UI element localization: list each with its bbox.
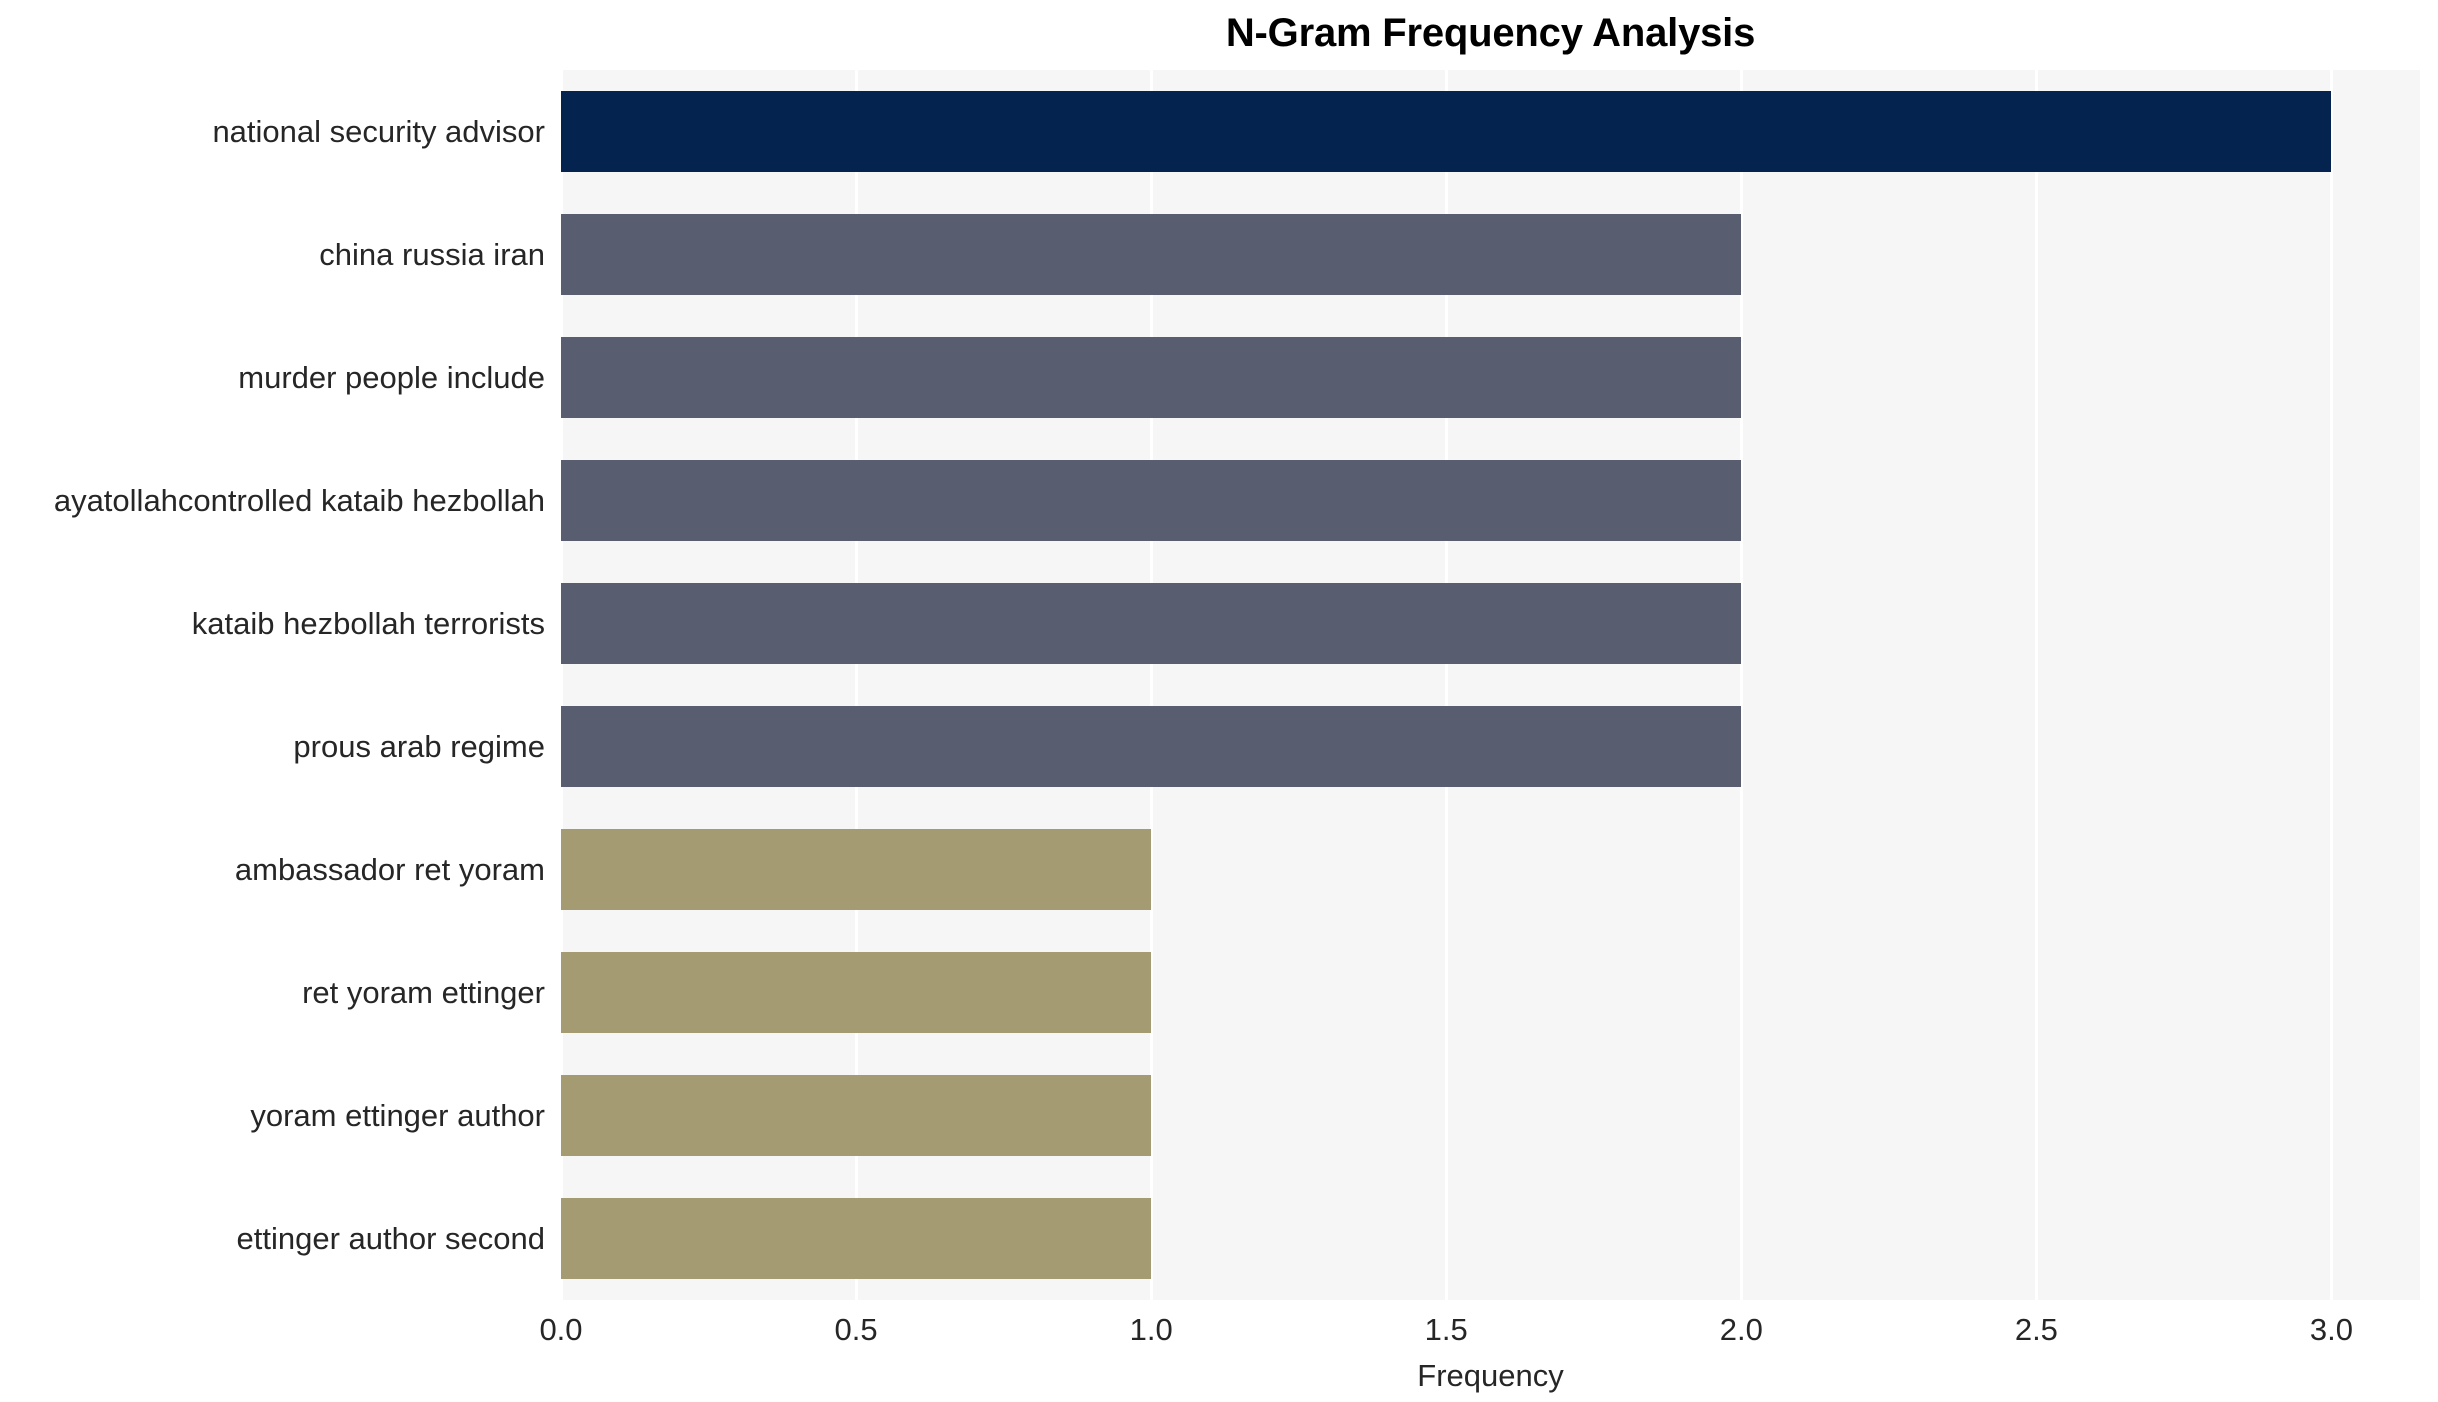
x-axis-tick-label: 2.0 [1661,1312,1821,1348]
y-axis-tick-label: china russia iran [0,237,545,273]
y-axis-tick-label: yoram ettinger author [0,1098,545,1134]
y-axis-tick-label: ettinger author second [0,1221,545,1257]
y-axis-tick-label: national security advisor [0,114,545,150]
chart-figure: N-Gram Frequency Analysis national secur… [0,0,2438,1402]
y-axis-tick-label: kataib hezbollah terrorists [0,606,545,642]
y-axis-tick-label: prous arab regime [0,729,545,765]
x-axis-tick-label: 0.0 [481,1312,641,1348]
x-axis-tick-label: 2.5 [1956,1312,2116,1348]
y-axis-tick-labels: national security advisorchina russia ir… [0,0,2438,1402]
y-axis-tick-label: murder people include [0,360,545,396]
y-axis-tick-label: ambassador ret yoram [0,852,545,888]
x-axis-tick-label: 0.5 [776,1312,936,1348]
x-axis-tick-label: 1.0 [1071,1312,1231,1348]
x-axis-label: Frequency [561,1358,2420,1394]
y-axis-tick-label: ayatollahcontrolled kataib hezbollah [0,483,545,519]
x-axis-tick-label: 3.0 [2251,1312,2411,1348]
y-axis-tick-label: ret yoram ettinger [0,975,545,1011]
x-axis-tick-label: 1.5 [1366,1312,1526,1348]
